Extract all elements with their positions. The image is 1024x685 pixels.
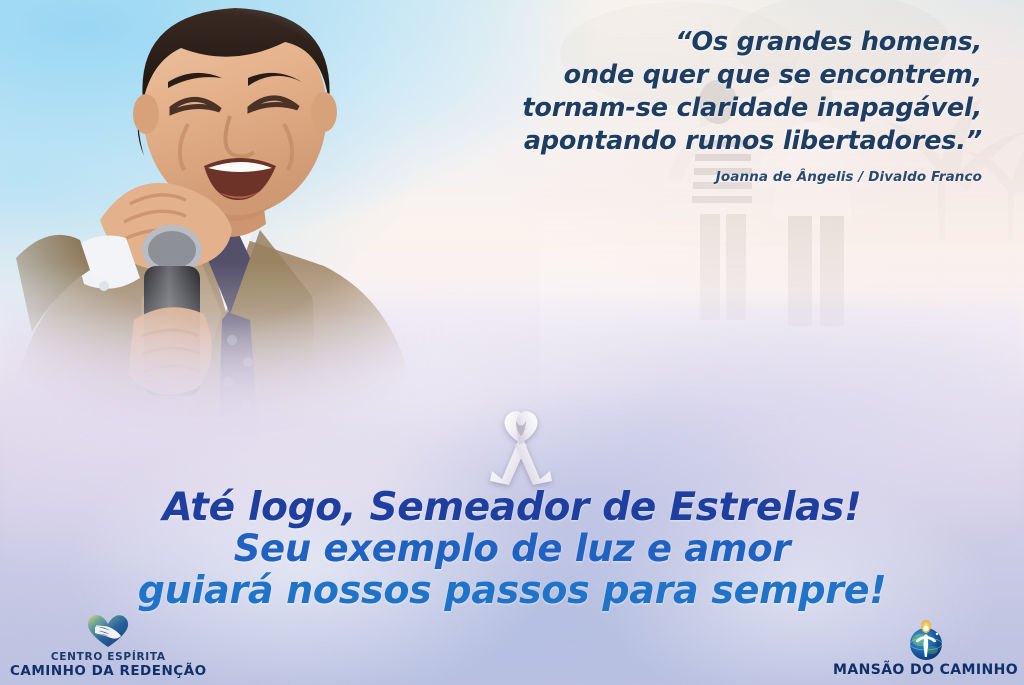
- memorial-poster: “Os grandes homens, onde quer que se enc…: [0, 0, 1024, 685]
- portrait-divaldo-franco: [0, 0, 462, 460]
- logo-left-text: CENTRO ESPÍRITA CAMINHO DA REDENÇÃO: [10, 652, 207, 679]
- quote-line-2: onde quer que se encontrem,: [422, 59, 982, 92]
- quote-attribution: Joanna de Ângelis / Divaldo Franco: [422, 169, 982, 185]
- globe-figure-icon: [905, 620, 947, 662]
- tribute-message: Até logo, Semeador de Estrelas! Seu exem…: [0, 487, 1024, 611]
- quote-line-3: tornam-se claridade inapagável,: [422, 92, 982, 125]
- quote-line-1: “Os grandes homens,: [422, 26, 982, 59]
- message-line-1: Até logo, Semeador de Estrelas!: [0, 487, 1024, 528]
- quote-block: “Os grandes homens, onde quer que se enc…: [422, 26, 982, 185]
- white-mourning-ribbon-icon: [486, 409, 556, 487]
- logo-right-line1: MANSÃO DO CAMINHO: [833, 663, 1018, 679]
- logo-centro-espirita-caminho-da-redencao: CENTRO ESPÍRITA CAMINHO DA REDENÇÃO: [10, 613, 207, 679]
- quote-line-4: apontando rumos libertadores.”: [422, 125, 982, 158]
- logo-right-text: MANSÃO DO CAMINHO: [833, 663, 1018, 679]
- heart-hands-icon: [85, 613, 131, 649]
- message-line-2: Seu exemplo de luz e amor: [0, 528, 1024, 569]
- logo-mansao-do-caminho: MANSÃO DO CAMINHO: [833, 620, 1018, 679]
- message-line-3: guiará nossos passos para sempre!: [0, 569, 1024, 611]
- logo-left-line2: CAMINHO DA REDENÇÃO: [10, 664, 207, 679]
